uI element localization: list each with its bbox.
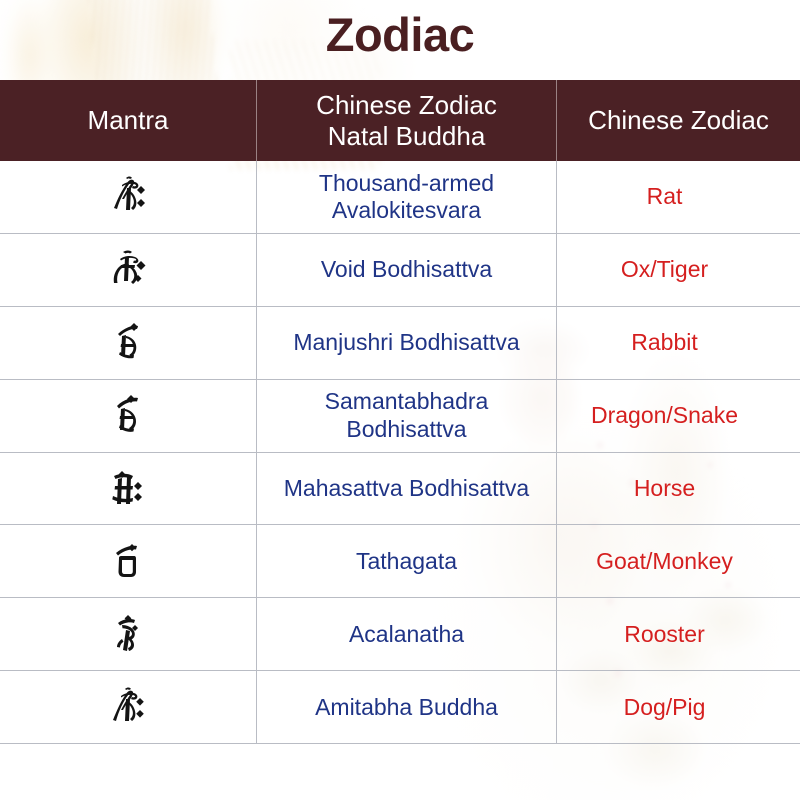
siddham-seed-syllable-1-icon bbox=[100, 168, 156, 224]
natal-buddha-line2: Avalokitesvara bbox=[319, 197, 494, 224]
natal-buddha-cell: Mahasattva Bodhisattva bbox=[256, 453, 556, 525]
natal-buddha-cell: Acalanatha bbox=[256, 598, 556, 670]
table-row: Tathagata Goat/Monkey bbox=[0, 525, 800, 598]
siddham-seed-syllable-2-icon bbox=[100, 241, 156, 297]
zodiac-cell: Rabbit bbox=[556, 307, 800, 379]
siddham-seed-syllable-8-icon bbox=[100, 678, 156, 734]
zodiac-cell: Goat/Monkey bbox=[556, 525, 800, 597]
zodiac-cell: Dragon/Snake bbox=[556, 380, 800, 452]
mantra-cell bbox=[0, 453, 256, 525]
natal-buddha-line2: Bodhisattva bbox=[325, 416, 489, 443]
column-header-mantra: Mantra bbox=[0, 80, 256, 161]
zodiac-cell: Dog/Pig bbox=[556, 671, 800, 743]
siddham-seed-syllable-6-icon bbox=[100, 532, 156, 588]
mantra-cell bbox=[0, 161, 256, 233]
zodiac-cell: Ox/Tiger bbox=[556, 234, 800, 306]
column-header-natal-buddha-line2: Natal Buddha bbox=[316, 121, 497, 151]
natal-buddha-cell: Amitabha Buddha bbox=[256, 671, 556, 743]
table-row: Thousand-armed Avalokitesvara Rat bbox=[0, 161, 800, 234]
table-header-row: Mantra Chinese Zodiac Natal Buddha Chine… bbox=[0, 80, 800, 161]
table-row: Mahasattva Bodhisattva Horse bbox=[0, 453, 800, 526]
column-header-natal-buddha: Chinese Zodiac Natal Buddha bbox=[256, 80, 556, 161]
mantra-cell bbox=[0, 671, 256, 743]
natal-buddha-line1: Samantabhadra bbox=[325, 388, 489, 415]
natal-buddha-cell: Samantabhadra Bodhisattva bbox=[256, 380, 556, 452]
table-row: Void Bodhisattva Ox/Tiger bbox=[0, 234, 800, 307]
natal-buddha-cell: Void Bodhisattva bbox=[256, 234, 556, 306]
table-row: Samantabhadra Bodhisattva Dragon/Snake bbox=[0, 380, 800, 453]
zodiac-cell: Rat bbox=[556, 161, 800, 233]
natal-buddha-cell: Tathagata bbox=[256, 525, 556, 597]
table-row: Acalanatha Rooster bbox=[0, 598, 800, 671]
zodiac-table: Mantra Chinese Zodiac Natal Buddha Chine… bbox=[0, 80, 800, 744]
column-header-chinese-zodiac: Chinese Zodiac bbox=[556, 80, 800, 161]
mantra-cell bbox=[0, 598, 256, 670]
natal-buddha-cell: Manjushri Bodhisattva bbox=[256, 307, 556, 379]
table-row: Amitabha Buddha Dog/Pig bbox=[0, 671, 800, 744]
siddham-seed-syllable-5-icon bbox=[100, 460, 156, 516]
zodiac-cell: Horse bbox=[556, 453, 800, 525]
natal-buddha-cell: Thousand-armed Avalokitesvara bbox=[256, 161, 556, 233]
siddham-seed-syllable-3-icon bbox=[100, 314, 156, 370]
table-body: Thousand-armed Avalokitesvara Rat bbox=[0, 161, 800, 744]
mantra-cell bbox=[0, 307, 256, 379]
mantra-cell bbox=[0, 525, 256, 597]
mantra-cell bbox=[0, 234, 256, 306]
siddham-seed-syllable-4-icon bbox=[100, 387, 156, 443]
mantra-cell bbox=[0, 380, 256, 452]
page-title: Zodiac bbox=[0, 6, 800, 65]
zodiac-cell: Rooster bbox=[556, 598, 800, 670]
natal-buddha-line1: Thousand-armed bbox=[319, 170, 494, 197]
siddham-seed-syllable-7-icon bbox=[100, 605, 156, 661]
zodiac-infographic: Zodiac Mantra Chinese Zodiac Natal Buddh… bbox=[0, 0, 800, 800]
table-row: Manjushri Bodhisattva Rabbit bbox=[0, 307, 800, 380]
column-header-natal-buddha-line1: Chinese Zodiac bbox=[316, 90, 497, 120]
